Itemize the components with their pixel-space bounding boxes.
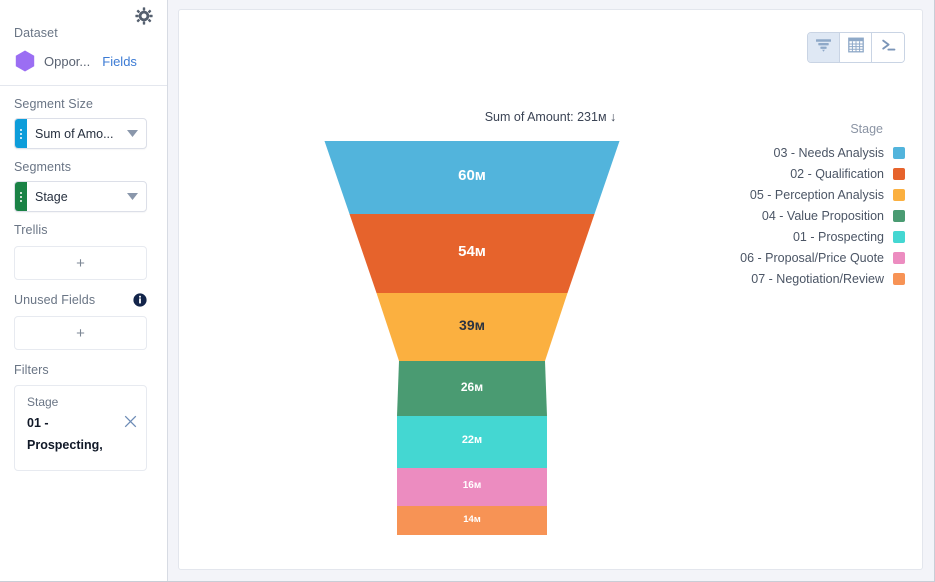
unused-fields-label: Unused Fields [14, 293, 133, 307]
chart-title-text: Sum of Amount: 231м ↓ [485, 110, 617, 124]
legend-items: 03 - Needs Analysis02 - Qualification05 … [715, 143, 905, 288]
add-unused-field-button[interactable]: + [14, 316, 147, 350]
chart-area: Sum of Amount: 231м ↓ 60м54м39м26м22м16м… [168, 0, 934, 581]
trellis-label: Trellis [0, 223, 167, 237]
legend-color-swatch [893, 147, 905, 159]
filter-card-stage[interactable]: Stage 01 - Prospecting, [14, 385, 147, 471]
funnel-segment[interactable] [397, 506, 547, 535]
terminal-prompt-icon [880, 37, 897, 58]
add-trellis-button[interactable]: + [14, 246, 147, 280]
dataset-row[interactable]: Oppor... Fields [0, 40, 167, 75]
unused-fields-section: Unused Fields + [0, 280, 167, 350]
segment-size-value: Sum of Amo... [27, 127, 126, 141]
segments-field-pill[interactable]: Stage [14, 181, 147, 212]
legend-item[interactable]: 03 - Needs Analysis [715, 143, 905, 162]
drag-grip-icon[interactable] [15, 119, 27, 148]
gear-icon[interactable] [135, 7, 153, 25]
info-icon[interactable] [133, 293, 147, 307]
drag-grip-icon[interactable] [15, 182, 27, 211]
funnel-segment[interactable] [397, 468, 547, 506]
explorer-sidebar: Dataset Oppor... Fields Segment Size Sum… [0, 0, 168, 581]
legend-item[interactable]: 07 - Negotiation/Review [715, 269, 905, 288]
segments-value: Stage [27, 190, 126, 204]
legend-color-swatch [893, 231, 905, 243]
legend-item-label: 01 - Prospecting [793, 230, 884, 244]
dataset-fields-link[interactable]: Fields [102, 54, 137, 69]
legend-item-label: 06 - Proposal/Price Quote [740, 251, 884, 265]
legend-item[interactable]: 05 - Perception Analysis [715, 185, 905, 204]
legend-item-label: 05 - Perception Analysis [750, 188, 884, 202]
funnel-chart-view-button[interactable] [808, 33, 840, 62]
view-toolbar [807, 32, 905, 63]
funnel-segment[interactable] [377, 293, 568, 361]
close-icon[interactable] [124, 415, 137, 428]
filters-section: Filters Stage 01 - Prospecting, [0, 350, 167, 471]
query-console-button[interactable] [872, 33, 904, 62]
filter-field-value: 01 - Prospecting, [27, 413, 109, 456]
legend-item-label: 04 - Value Proposition [762, 209, 884, 223]
chart-card: Sum of Amount: 231м ↓ 60м54м39м26м22м16м… [178, 9, 923, 570]
funnel-segment[interactable] [397, 416, 547, 468]
legend-color-swatch [893, 210, 905, 222]
segment-size-section: Segment Size Sum of Amo... [0, 86, 167, 149]
funnel-segment[interactable] [397, 361, 547, 416]
legend-color-swatch [893, 168, 905, 180]
chart-legend: Stage 03 - Needs Analysis02 - Qualificat… [715, 122, 905, 290]
dataset-name: Oppor... [44, 54, 90, 69]
funnel-segment[interactable] [325, 141, 620, 214]
legend-item[interactable]: 04 - Value Proposition [715, 206, 905, 225]
hexagon-dataset-icon [14, 49, 36, 73]
segment-size-label: Segment Size [0, 97, 167, 111]
dataset-label: Dataset [0, 26, 167, 40]
segment-size-field-pill[interactable]: Sum of Amo... [14, 118, 147, 149]
funnel-chart: 60м54м39м26м22м16м14м [307, 133, 637, 543]
funnel-svg[interactable] [307, 133, 637, 543]
legend-item[interactable]: 01 - Prospecting [715, 227, 905, 246]
funnel-segment[interactable] [350, 214, 595, 293]
legend-item-label: 03 - Needs Analysis [774, 146, 884, 160]
table-view-button[interactable] [840, 33, 872, 62]
segments-label: Segments [0, 160, 167, 174]
legend-item[interactable]: 06 - Proposal/Price Quote [715, 248, 905, 267]
table-grid-icon [848, 37, 864, 58]
legend-color-swatch [893, 189, 905, 201]
legend-item[interactable]: 02 - Qualification [715, 164, 905, 183]
sidebar-header [0, 0, 167, 26]
legend-title: Stage [715, 122, 905, 136]
chevron-down-icon[interactable] [126, 130, 146, 137]
trellis-section: Trellis + [0, 212, 167, 280]
legend-color-swatch [893, 252, 905, 264]
legend-item-label: 02 - Qualification [790, 167, 884, 181]
filter-field-name: Stage [27, 395, 136, 409]
legend-item-label: 07 - Negotiation/Review [751, 272, 884, 286]
dataset-section: Dataset Oppor... Fields [0, 26, 167, 86]
funnel-icon [815, 37, 832, 58]
filters-label: Filters [14, 363, 147, 377]
segments-section: Segments Stage [0, 149, 167, 212]
legend-color-swatch [893, 273, 905, 285]
analytics-lens-explorer: Dataset Oppor... Fields Segment Size Sum… [0, 0, 935, 582]
chevron-down-icon[interactable] [126, 193, 146, 200]
